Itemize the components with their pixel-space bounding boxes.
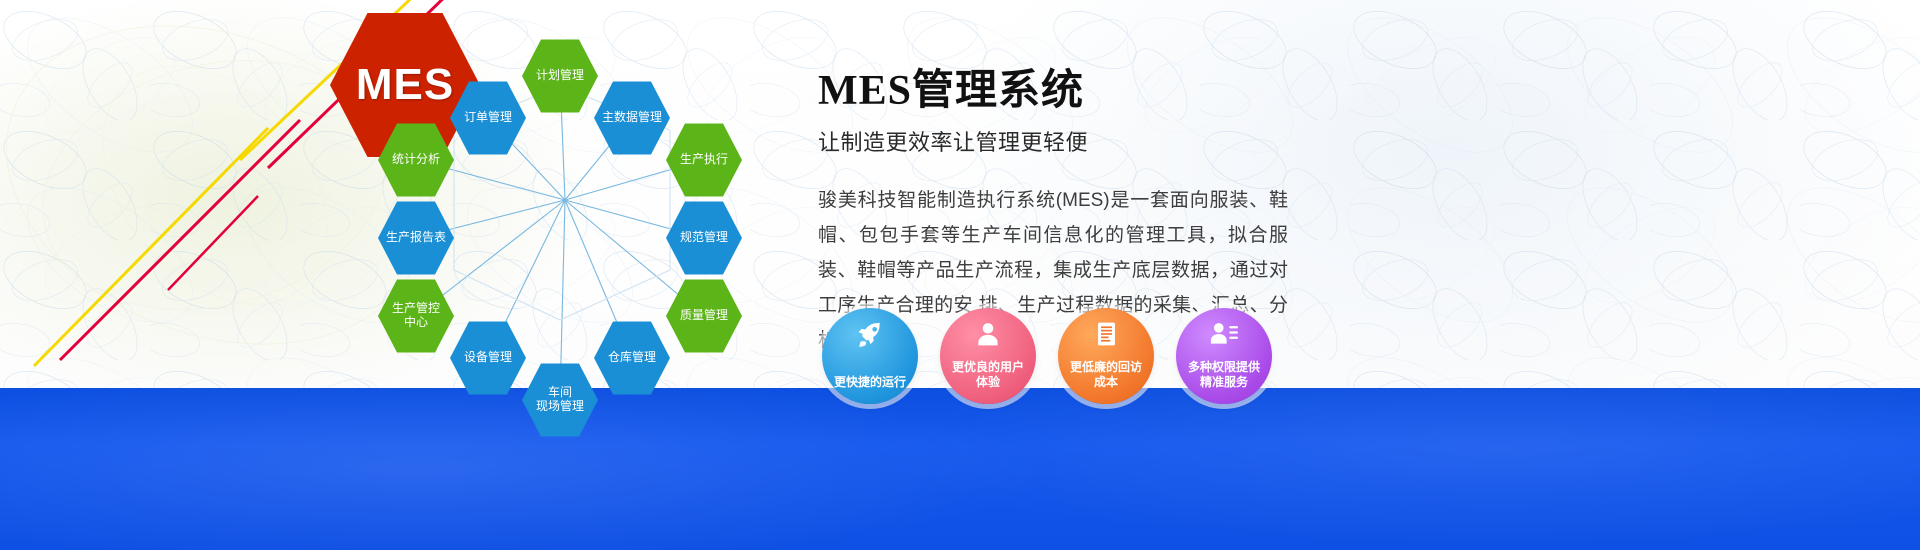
hex-label: 设备管理	[460, 351, 516, 365]
hex-label: 生产执行	[676, 153, 732, 167]
document-icon	[1058, 320, 1154, 353]
feature-label: 多种权限提供精准服务	[1176, 360, 1272, 404]
hex-node-warehouse-management[interactable]: 仓库管理	[594, 320, 670, 396]
feature-label: 更低廉的回访成本	[1058, 360, 1154, 404]
hex-node-production-control-center[interactable]: 生产管控 中心	[378, 278, 454, 354]
feature-label: 更快捷的运行	[826, 375, 914, 404]
hex-label: 规范管理	[676, 231, 732, 245]
feature-label: 更优良的用户体验	[940, 360, 1036, 404]
hex-label: 主数据管理	[598, 111, 666, 125]
hex-center-label: MES	[352, 60, 458, 111]
hex-label: 计划管理	[532, 69, 588, 83]
user-icon	[940, 320, 1036, 353]
feature-badge-faster-operation[interactable]: 更快捷的运行	[822, 308, 918, 404]
page-subtitle: 让制造更效率让管理更轻便	[818, 125, 1858, 157]
feature-badge-multi-permission-service[interactable]: 多种权限提供精准服务	[1176, 308, 1272, 404]
mes-hex-diagram: MES 计划管理 订单管理 统计分析 生产报告表 生产管控 中心 设备管理 车间…	[330, 10, 800, 440]
hex-node-workshop-site-management[interactable]: 车间 现场管理	[522, 362, 598, 438]
rocket-icon	[822, 320, 918, 355]
hex-node-standard-management[interactable]: 规范管理	[666, 200, 742, 276]
hex-label: 仓库管理	[604, 351, 660, 365]
mes-banner: MES 计划管理 订单管理 统计分析 生产报告表 生产管控 中心 设备管理 车间…	[0, 0, 1920, 550]
hex-node-plan-management[interactable]: 计划管理	[522, 38, 598, 114]
hex-label: 质量管理	[676, 309, 732, 323]
feature-badges: 更快捷的运行 更优良的用户体验	[822, 308, 1272, 404]
hex-node-equipment-management[interactable]: 设备管理	[450, 320, 526, 396]
user-list-icon	[1176, 320, 1272, 353]
hex-label: 生产管控 中心	[388, 302, 444, 330]
feature-badge-better-user-experience[interactable]: 更优良的用户体验	[940, 308, 1036, 404]
feature-badge-lower-revisit-cost[interactable]: 更低廉的回访成本	[1058, 308, 1154, 404]
hex-node-production-execution[interactable]: 生产执行	[666, 122, 742, 198]
hex-label: 订单管理	[460, 111, 516, 125]
hex-label: 统计分析	[388, 153, 444, 167]
hex-node-master-data-management[interactable]: 主数据管理	[594, 80, 670, 156]
hex-node-production-report[interactable]: 生产报告表	[378, 200, 454, 276]
hex-label: 车间 现场管理	[532, 386, 588, 414]
page-title: MES管理系统	[818, 56, 1858, 117]
background-bottom-band	[0, 388, 1920, 550]
hex-label: 生产报告表	[382, 231, 450, 245]
hex-node-quality-management[interactable]: 质量管理	[666, 278, 742, 354]
